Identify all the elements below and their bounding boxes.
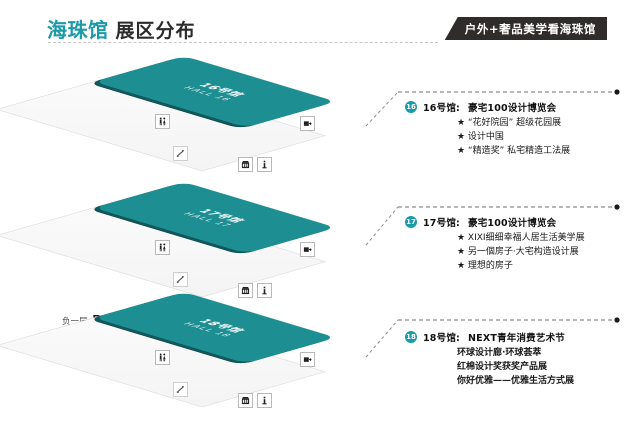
list-item: 红棉设计奖获奖产品展 <box>405 361 633 375</box>
shop-icon[interactable] <box>238 393 253 408</box>
hall-badge-18: 18 <box>405 331 417 343</box>
hall-info-18-name: 18号馆: <box>423 330 460 344</box>
hall-info-18-list: 环球设计廊·环球荟萃 红棉设计奖获奖产品展 你好优雅——优雅生活方式展 <box>405 347 633 389</box>
list-item: ★ XIXI细细幸福人居生活美学展 <box>405 232 633 246</box>
shop-icon[interactable] <box>238 283 253 298</box>
hall-info-17-name: 17号馆: <box>423 215 460 229</box>
escalator-icon[interactable] <box>173 146 188 161</box>
hall-info-16-name: 16号馆: <box>423 100 460 114</box>
hall-info-16-list: ★ “花好院园” 超级花园展 ★ 设计中国 ★ “精造奖” 私宅精造工法展 <box>405 117 633 159</box>
shop-icon[interactable] <box>238 157 253 172</box>
hall-info-16-head: 16 16号馆: 豪宅100设计博览会 <box>405 100 633 114</box>
exit-icon[interactable] <box>300 242 315 257</box>
hall-badge-16: 16 <box>405 101 417 113</box>
escalator-icon[interactable] <box>173 272 188 287</box>
list-item: 环球设计廊·环球荟萃 <box>405 347 633 361</box>
hall-info-17: 17 17号馆: 豪宅100设计博览会 ★ XIXI细细幸福人居生活美学展 ★ … <box>405 215 633 274</box>
list-item: ★ 理想的房子 <box>405 260 633 274</box>
hall-info-17-head: 17 17号馆: 豪宅100设计博览会 <box>405 215 633 229</box>
connector-endpoint-18 <box>614 317 619 322</box>
hall-info-18-title: NEXT青年消费艺术节 <box>468 330 565 344</box>
restroom-icon[interactable] <box>155 350 170 365</box>
hall-badge-17: 17 <box>405 216 417 228</box>
list-item: ★ “精造奖” 私宅精造工法展 <box>405 145 633 159</box>
information-icon[interactable] <box>257 393 272 408</box>
list-item: ★ 设计中国 <box>405 131 633 145</box>
hall-info-17-list: ★ XIXI细细幸福人居生活美学展 ★ 另一個房子·大宅构造设计展 ★ 理想的房… <box>405 232 633 274</box>
list-item: 你好优雅——优雅生活方式展 <box>405 375 633 389</box>
connector-endpoint-17 <box>614 204 619 209</box>
hall-info-16: 16 16号馆: 豪宅100设计博览会 ★ “花好院园” 超级花园展 ★ 设计中… <box>405 100 633 159</box>
hall-info-18-head: 18 18号馆: NEXT青年消费艺术节 <box>405 330 633 344</box>
hall-info-17-title: 豪宅100设计博览会 <box>468 215 556 229</box>
list-item: ★ 另一個房子·大宅构造设计展 <box>405 246 633 260</box>
connector-endpoint-16 <box>614 89 619 94</box>
information-icon[interactable] <box>257 283 272 298</box>
hall-info-16-title: 豪宅100设计博览会 <box>468 100 556 114</box>
exit-icon[interactable] <box>300 352 315 367</box>
hall-info-18: 18 18号馆: NEXT青年消费艺术节 环球设计廊·环球荟萃 红棉设计奖获奖产… <box>405 330 633 389</box>
exhibition-floor-map: 海珠馆 展区分布 户外+奢品美学看海珠馆 二层 2F 一层 1F 负一层 B1F… <box>0 0 635 430</box>
information-icon[interactable] <box>257 157 272 172</box>
exit-icon[interactable] <box>300 116 315 131</box>
escalator-icon[interactable] <box>173 382 188 397</box>
restroom-icon[interactable] <box>155 114 170 129</box>
list-item: ★ “花好院园” 超级花园展 <box>405 117 633 131</box>
restroom-icon[interactable] <box>155 240 170 255</box>
